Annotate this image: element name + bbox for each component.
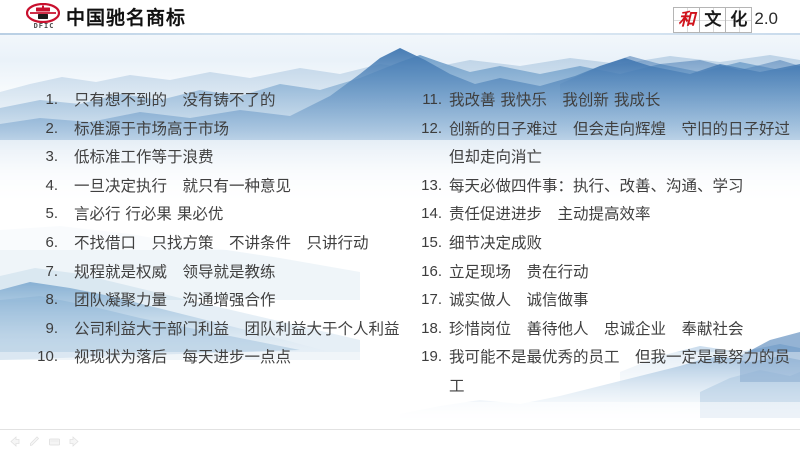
list-item-text: 珍惜岗位 善待他人 忠诚企业 奉献社会 [449, 315, 790, 344]
next-arrow-icon[interactable] [68, 435, 81, 448]
list-item: 13. 每天必做四件事：执行、改善、沟通、学习 [418, 172, 790, 201]
list-item-number: 17. [418, 286, 442, 315]
list-item: 18. 珍惜岗位 善待他人 忠诚企业 奉献社会 [418, 315, 790, 344]
list-item-text: 我改善 我快乐 我创新 我成长 [449, 86, 790, 115]
header-divider [0, 33, 800, 35]
list-item-number: 9. [28, 315, 58, 344]
list-item-text: 细节决定成败 [449, 229, 790, 258]
list-item-number: 14. [418, 200, 442, 229]
slide-content: 1. 只有想不到的 没有铸不了的 2. 标准源于市场高于市场 3. 低标准工作等… [0, 34, 800, 451]
list-item: 6. 不找借口 只找方策 不讲条件 只讲行动 [28, 229, 420, 258]
logo: DFIC [24, 3, 64, 33]
list-item-text: 立足现场 贵在行动 [449, 258, 790, 287]
slide-icon[interactable] [48, 435, 61, 448]
list-item: 4. 一旦决定执行 就只有一种意见 [28, 172, 420, 201]
list-item: 16. 立足现场 贵在行动 [418, 258, 790, 287]
page-title: 中国驰名商标 [66, 7, 186, 29]
list-item-text: 诚实做人 诚信做事 [449, 286, 790, 315]
list-item-text: 一旦决定执行 就只有一种意见 [74, 172, 420, 201]
list-item-number: 19. [418, 343, 442, 372]
list-item: 8. 团队凝聚力量 沟通增强合作 [28, 286, 420, 315]
list-item: 7. 规程就是权威 领导就是教练 [28, 258, 420, 287]
list-item: 5. 言必行 行必果 果必优 [28, 200, 420, 229]
badge-cell-hua: 化 [725, 7, 752, 33]
list-item-number: 10. [28, 343, 58, 372]
list-item-text: 团队凝聚力量 沟通增强合作 [74, 286, 420, 315]
list-item-number: 1. [28, 86, 58, 115]
list-item: 19. 我可能不是最优秀的员工 但我一定是最努力的员工 [418, 343, 790, 400]
list-item: 2. 标准源于市场高于市场 [28, 115, 420, 144]
right-column: 11. 我改善 我快乐 我创新 我成长 12. 创新的日子难过 但会走向辉煌 守… [418, 86, 790, 401]
list-item-number: 4. [28, 172, 58, 201]
list-item-number: 11. [418, 86, 442, 115]
list-item-text: 不找借口 只找方策 不讲条件 只讲行动 [74, 229, 420, 258]
list-item-number: 18. [418, 315, 442, 344]
list-item: 10. 视现状为落后 每天进步一点点 [28, 343, 420, 372]
list-item-number: 6. [28, 229, 58, 258]
left-list: 1. 只有想不到的 没有铸不了的 2. 标准源于市场高于市场 3. 低标准工作等… [28, 86, 420, 372]
he-culture-badge: 和 文 化 2.0 [674, 7, 778, 31]
badge-cell-he: 和 [673, 7, 700, 33]
list-item-number: 3. [28, 143, 58, 172]
list-item-text: 标准源于市场高于市场 [74, 115, 420, 144]
list-item-number: 13. [418, 172, 442, 201]
badge-glyph-wen: 文 [704, 12, 721, 29]
previous-arrow-icon[interactable] [8, 435, 21, 448]
list-item-text: 低标准工作等于浪费 [74, 143, 420, 172]
list-item-text: 责任促进进步 主动提高效率 [449, 200, 790, 229]
list-item-text: 我可能不是最优秀的员工 但我一定是最努力的员工 [449, 343, 790, 400]
list-item-text: 视现状为落后 每天进步一点点 [74, 343, 420, 372]
logo-wordmark: DFIC [27, 22, 61, 30]
list-item-number: 15. [418, 229, 442, 258]
list-item: 1. 只有想不到的 没有铸不了的 [28, 86, 420, 115]
dfic-emblem-icon [26, 3, 60, 23]
badge-glyph-he: 和 [678, 12, 695, 29]
list-item-number: 12. [418, 115, 442, 144]
list-item-text: 言必行 行必果 果必优 [74, 200, 420, 229]
list-item-text: 规程就是权威 领导就是教练 [74, 258, 420, 287]
list-item-number: 7. [28, 258, 58, 287]
list-item: 11. 我改善 我快乐 我创新 我成长 [418, 86, 790, 115]
list-item: 15. 细节决定成败 [418, 229, 790, 258]
pen-icon[interactable] [28, 435, 41, 448]
list-item: 9. 公司利益大于部门利益 团队利益大于个人利益 [28, 315, 420, 344]
list-item: 12. 创新的日子难过 但会走向辉煌 守旧的日子好过 但却走向消亡 [418, 115, 790, 172]
right-list: 11. 我改善 我快乐 我创新 我成长 12. 创新的日子难过 但会走向辉煌 守… [418, 86, 790, 401]
left-column: 1. 只有想不到的 没有铸不了的 2. 标准源于市场高于市场 3. 低标准工作等… [28, 86, 420, 372]
list-item: 3. 低标准工作等于浪费 [28, 143, 420, 172]
slide-canvas: DFIC 中国驰名商标 和 文 化 2.0 1. 只有想不到的 没有铸不了的 2… [0, 0, 800, 451]
badge-glyph-hua: 化 [730, 12, 747, 29]
list-item-text: 公司利益大于部门利益 团队利益大于个人利益 [74, 315, 420, 344]
list-item: 17. 诚实做人 诚信做事 [418, 286, 790, 315]
toolbar-divider [0, 429, 800, 430]
toolbar-icon-group [8, 435, 81, 448]
list-item-number: 16. [418, 258, 442, 287]
presentation-toolbar [0, 429, 800, 451]
list-item-text: 只有想不到的 没有铸不了的 [74, 86, 420, 115]
badge-cell-wen: 文 [699, 7, 726, 33]
badge-version: 2.0 [754, 7, 778, 31]
list-item-number: 2. [28, 115, 58, 144]
list-item-number: 5. [28, 200, 58, 229]
list-item-text: 每天必做四件事：执行、改善、沟通、学习 [449, 172, 790, 201]
list-item-text: 创新的日子难过 但会走向辉煌 守旧的日子好过 但却走向消亡 [449, 115, 790, 172]
list-item-number: 8. [28, 286, 58, 315]
list-item: 14. 责任促进进步 主动提高效率 [418, 200, 790, 229]
